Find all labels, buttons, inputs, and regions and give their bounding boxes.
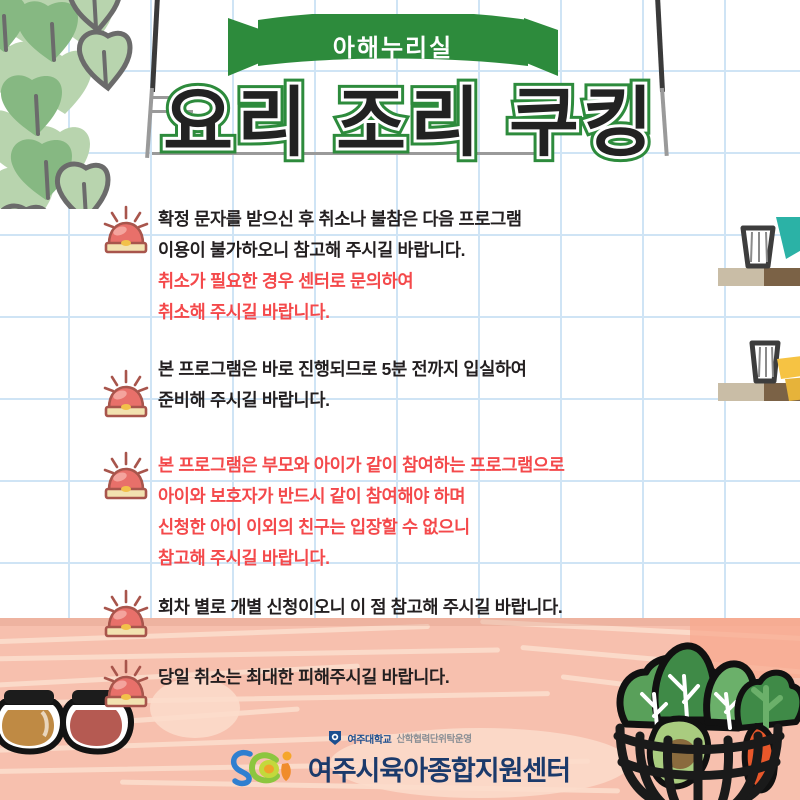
notice-item: 회차 별로 개별 신청이오니 이 점 참고해 주시길 바랍니다. xyxy=(100,588,740,640)
notice-lines: 회차 별로 개별 신청이오니 이 점 참고해 주시길 바랍니다. xyxy=(158,588,740,623)
notice-line: 당일 취소는 최대한 피해주시길 바랍니다. xyxy=(158,662,740,693)
university-badge-icon xyxy=(328,730,342,746)
hanging-heart-leaf-plant xyxy=(0,0,155,199)
teal-decor-upper xyxy=(772,215,800,275)
notice-list: 확정 문자를 받으신 후 취소나 불참은 다음 프로그램 이용이 불가하오니 참… xyxy=(100,204,740,724)
center-row: 여주시육아종합지원센터 xyxy=(0,748,800,788)
center-name: 여주시육아종합지원센터 xyxy=(308,749,570,788)
notice-item: 본 프로그램은 바로 진행되므로 5분 전까지 입실하여 준비해 주시길 바랍니… xyxy=(100,354,740,420)
banner-ribbon: 아해누리실 xyxy=(228,14,558,76)
notice-lines: 확정 문자를 받으신 후 취소나 불참은 다음 프로그램 이용이 불가하오니 참… xyxy=(158,204,740,328)
sci-logo xyxy=(230,748,298,788)
main-title: 요리 조리 쿠킹 요리 조리 쿠킹 요리 조리 쿠킹 xyxy=(150,74,670,174)
siren-icon xyxy=(100,658,152,710)
notice-line: 아이와 보호자가 반드시 같이 참여해야 하며 xyxy=(158,481,740,512)
university-row: 여주대학교 산학협력단위탁운영 xyxy=(0,730,800,746)
university-name: 여주대학교 xyxy=(347,731,391,746)
siren-icon xyxy=(100,204,152,256)
siren-icon xyxy=(100,450,152,502)
footer: 여주대학교 산학협력단위탁운영 여주시육아종합지원센터 xyxy=(0,726,800,800)
siren-icon xyxy=(100,368,152,420)
notice-item: 확정 문자를 받으신 후 취소나 불참은 다음 프로그램 이용이 불가하오니 참… xyxy=(100,204,740,328)
banner-label: 아해누리실 xyxy=(228,28,558,63)
notice-item: 본 프로그램은 부모와 아이가 같이 참여하는 프로그램으로 아이와 보호자가 … xyxy=(100,450,740,574)
notice-line: 준비해 주시길 바랍니다. xyxy=(158,385,740,416)
notice-line: 본 프로그램은 부모와 아이가 같이 참여하는 프로그램으로 xyxy=(158,450,740,481)
university-sub: 산학협력단위탁운영 xyxy=(396,731,471,745)
main-title-outline: 요리 조리 쿠킹 xyxy=(163,86,657,162)
notice-lines: 당일 취소는 최대한 피해주시길 바랍니다. xyxy=(158,658,740,693)
siren-icon xyxy=(100,588,152,640)
notice-line: 신청한 아이 이외의 친구는 입장할 수 없으니 xyxy=(158,512,740,543)
poster-root: 아해누리실 요리 조리 쿠킹 요리 조리 쿠킹 요리 조리 쿠킹 xyxy=(0,0,800,800)
notice-line: 확정 문자를 받으신 후 취소나 불참은 다음 프로그램 xyxy=(158,204,740,235)
notice-line: 취소가 필요한 경우 센터로 문의하여 xyxy=(158,266,740,297)
notice-line: 참고해 주시길 바랍니다. xyxy=(158,543,740,574)
notice-line: 이용이 불가하오니 참고해 주시길 바랍니다. xyxy=(158,235,740,266)
notice-lines: 본 프로그램은 부모와 아이가 같이 참여하는 프로그램으로 아이와 보호자가 … xyxy=(158,450,740,574)
notice-line: 취소해 주시길 바랍니다. xyxy=(158,297,740,328)
notice-line: 회차 별로 개별 신청이오니 이 점 참고해 주시길 바랍니다. xyxy=(158,592,740,623)
notice-lines: 본 프로그램은 바로 진행되므로 5분 전까지 입실하여 준비해 주시길 바랍니… xyxy=(158,354,740,416)
yellow-decor-lower xyxy=(775,355,800,405)
notice-item: 당일 취소는 최대한 피해주시길 바랍니다. xyxy=(100,658,740,710)
notice-line: 본 프로그램은 바로 진행되므로 5분 전까지 입실하여 xyxy=(158,354,740,385)
